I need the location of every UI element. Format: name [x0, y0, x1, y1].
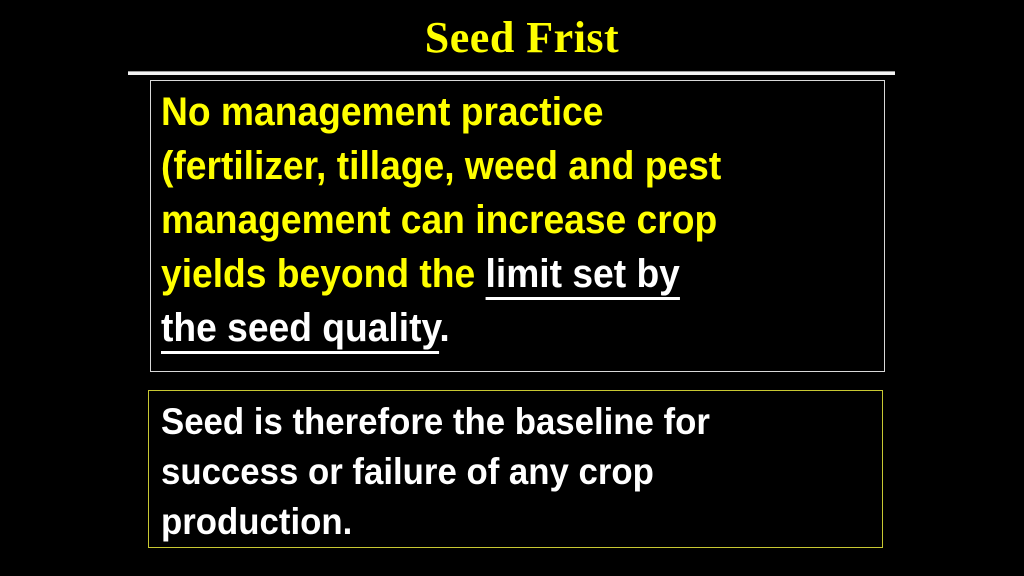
presentation-slide: Seed Frist No management practice (ferti…: [0, 0, 1024, 576]
primary-line-5-period: .: [439, 306, 449, 350]
primary-statement-line: (fertilizer, tillage, weed and pest: [161, 139, 828, 193]
primary-line-1-yellow: No management practice: [161, 90, 603, 134]
secondary-statement-line: Seed is therefore the baseline for: [161, 397, 833, 447]
primary-line-4-yellow: yields beyond the: [161, 252, 486, 296]
secondary-statement-box: Seed is therefore the baseline for succe…: [148, 390, 883, 548]
secondary-line-2: success or failure of any crop: [161, 451, 654, 492]
primary-line-3-yellow: management can increase crop: [161, 198, 717, 242]
secondary-statement-line: production.: [161, 497, 833, 547]
primary-line-2-yellow: (fertilizer, tillage, weed and pest: [161, 144, 721, 188]
primary-statement-box: No management practice (fertilizer, till…: [150, 80, 885, 372]
primary-statement-line: management can increase crop: [161, 193, 828, 247]
secondary-statement-line: success or failure of any crop: [161, 447, 833, 497]
primary-line-5-emphasis: the seed quality: [161, 306, 439, 354]
page-title: Seed Frist: [0, 14, 1024, 62]
primary-line-4-emphasis: limit set by: [486, 252, 680, 300]
primary-statement-line: yields beyond the limit set by: [161, 247, 828, 301]
secondary-line-1: Seed is therefore the baseline for: [161, 401, 710, 442]
title-area: Seed Frist: [0, 14, 1024, 74]
secondary-line-3: production.: [161, 501, 352, 542]
title-divider: [128, 71, 895, 75]
primary-statement-line: No management practice: [161, 85, 828, 139]
primary-statement-line: the seed quality.: [161, 301, 828, 355]
